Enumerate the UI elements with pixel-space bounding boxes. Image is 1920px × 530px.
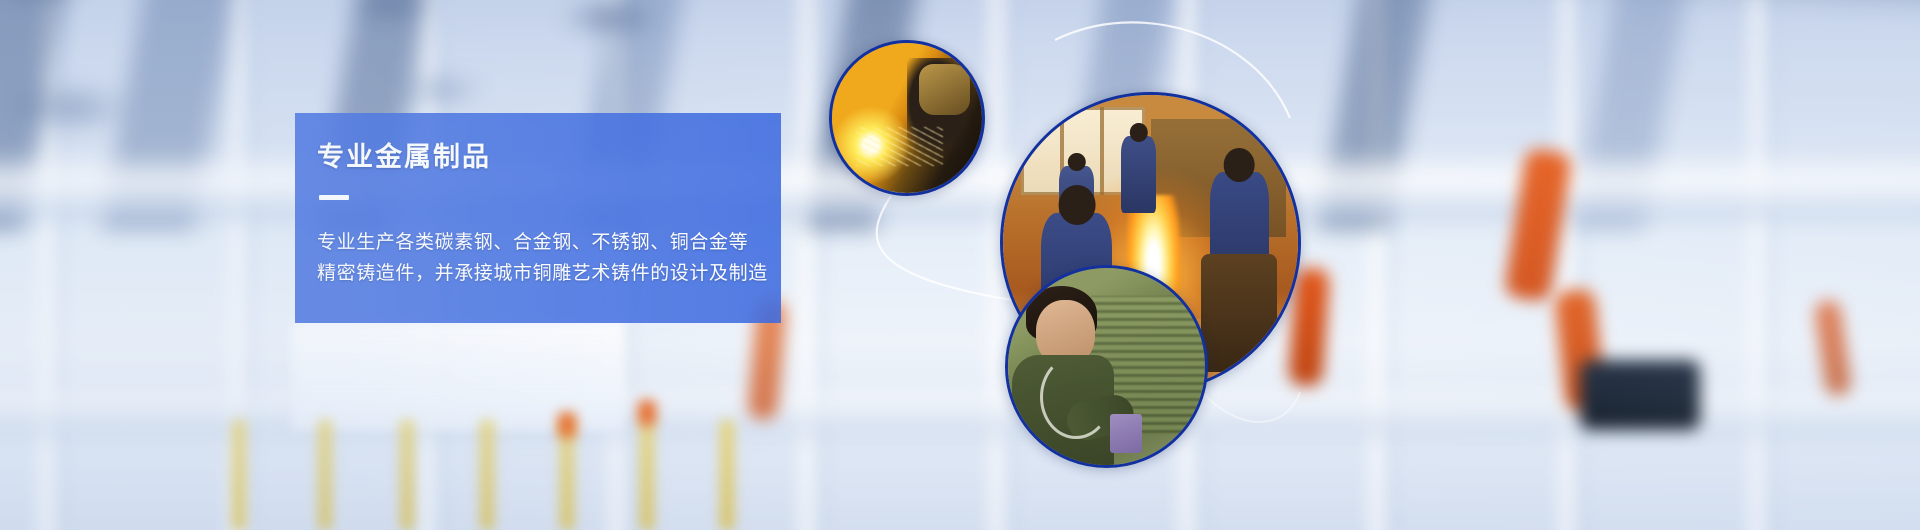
hero-banner: 专业金属制品 专业生产各类碳素钢、合金钢、不锈钢、铜合金等 精密铸造件，并承接城… — [0, 0, 1920, 530]
machine-housing — [1580, 360, 1700, 430]
wax-part — [1110, 414, 1142, 453]
floor-post — [400, 420, 414, 530]
crucible-barrel — [1201, 254, 1278, 372]
floor-post — [720, 420, 734, 530]
panel-description: 专业生产各类碳素钢、合金钢、不锈钢、铜合金等 精密铸造件，并承接城市铜雕艺术铸件… — [317, 228, 781, 290]
description-line-1: 专业生产各类碳素钢、合金钢、不锈钢、铜合金等 — [317, 228, 781, 259]
floor-post — [232, 420, 246, 530]
title-divider — [319, 195, 349, 200]
welding-photo-circle — [829, 40, 985, 196]
post-cap — [558, 412, 576, 438]
assembly-photo — [1008, 268, 1205, 465]
worker-figure — [1121, 136, 1156, 213]
promo-panel: 专业金属制品 专业生产各类碳素钢、合金钢、不锈钢、铜合金等 精密铸造件，并承接城… — [295, 113, 781, 323]
description-line-2: 精密铸造件，并承接城市铜雕艺术铸件的设计及制造 — [317, 259, 781, 290]
welding-photo — [832, 43, 982, 193]
page-title: 专业金属制品 — [317, 141, 781, 173]
welder-mask — [919, 64, 970, 115]
weld-sparks — [856, 127, 943, 166]
post-cap — [638, 400, 656, 426]
floor-post — [480, 420, 494, 530]
floor-post — [640, 420, 654, 530]
floor-post — [318, 420, 332, 530]
assembly-photo-circle — [1005, 265, 1208, 468]
